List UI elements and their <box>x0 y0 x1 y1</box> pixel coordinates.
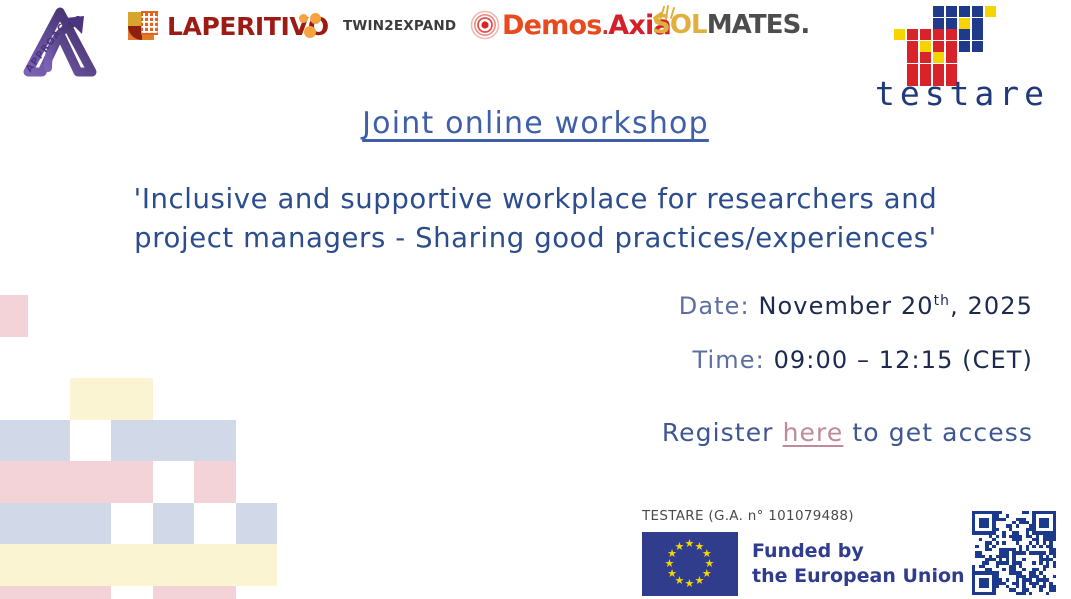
qr-module <box>1016 524 1019 527</box>
qr-module <box>999 511 1002 514</box>
demos-axia-logo: Demos.Axia <box>470 8 671 42</box>
mosaic-cell <box>153 544 195 586</box>
qr-module <box>1006 578 1009 581</box>
qr-module <box>1006 514 1009 517</box>
testare-mosaic-square <box>894 29 905 40</box>
qr-module <box>996 565 999 568</box>
testare-mosaic-square <box>972 41 983 52</box>
testare-mosaic-square <box>933 64 944 75</box>
qr-module <box>1002 535 1005 538</box>
eu-flag-star: ★ <box>685 578 695 589</box>
qr-module <box>1043 568 1046 571</box>
mosaic-cell <box>153 420 195 462</box>
mosaic-cell <box>70 461 112 503</box>
mosaic-cell <box>28 503 70 545</box>
mosaic-cell <box>194 586 236 599</box>
mosaic-cell <box>0 544 28 586</box>
qr-module <box>979 538 982 541</box>
testare-mosaic-square <box>920 52 931 63</box>
qr-module <box>1002 518 1005 521</box>
solmates-rays-icon <box>652 4 678 24</box>
qr-module <box>992 545 995 548</box>
testare-mosaic-square <box>946 29 957 40</box>
mosaic-cell <box>153 586 195 599</box>
qr-module <box>989 548 992 551</box>
mosaic-cell <box>194 420 236 462</box>
workshop-flyer: APPROACH LAPERITIVO <box>0 0 1071 599</box>
eu-funding-line2: the European Union <box>752 564 965 589</box>
twin2expand-dots-icon <box>299 13 321 39</box>
testare-mosaic-square <box>933 29 944 40</box>
qr-module <box>1046 592 1049 595</box>
qr-module <box>1016 585 1019 588</box>
testare-mosaic-square <box>933 52 944 63</box>
qr-module <box>1046 565 1049 568</box>
testare-mosaic-square <box>959 41 970 52</box>
testare-mosaic-square <box>959 18 970 29</box>
qr-finder <box>979 518 989 528</box>
mosaic-cell <box>28 544 70 586</box>
eu-funding-block: ★★★★★★★★★★★★ Funded by the European Unio… <box>642 532 965 596</box>
testare-mosaic-square <box>972 29 983 40</box>
mosaic-cell <box>28 420 70 462</box>
time-value: 09:00 – 12:15 (CET) <box>774 346 1033 374</box>
register-prefix: Register <box>662 418 783 447</box>
register-here-link[interactable]: here <box>783 418 844 447</box>
mosaic-cell <box>194 461 236 503</box>
registration-qr-code[interactable] <box>972 511 1056 595</box>
mosaic-cell <box>0 586 28 599</box>
testare-mosaic-square <box>972 18 983 29</box>
testare-logo: testare <box>862 0 1062 112</box>
partner-logo-strip: APPROACH LAPERITIVO <box>0 0 1071 110</box>
testare-mosaic-square <box>907 29 918 40</box>
testare-mosaic-square <box>920 64 931 75</box>
qr-module <box>1019 538 1022 541</box>
workshop-subject-line1: 'Inclusive and supportive workplace for … <box>0 180 1071 219</box>
solmates-word-part2: MATES. <box>707 10 810 40</box>
testare-mosaic-square <box>959 6 970 17</box>
qr-module <box>1022 551 1025 554</box>
testare-mosaic-square <box>920 29 931 40</box>
event-time-line: Time: 09:00 – 12:15 (CET) <box>393 346 1033 374</box>
qr-module <box>996 585 999 588</box>
funding-footer: TESTARE (G.A. n° 101079488) ★★★★★★★★★★★★… <box>642 508 1062 596</box>
testare-mosaic-square <box>907 52 918 63</box>
mosaic-cell <box>70 544 112 586</box>
mosaic-cell <box>28 586 70 599</box>
date-label: Date: <box>679 292 750 320</box>
mosaic-cell <box>70 378 112 420</box>
event-date-line: Date: November 20th, 2025 <box>393 292 1033 320</box>
eu-funding-line1: Funded by <box>752 539 965 564</box>
qr-finder <box>1039 518 1049 528</box>
register-suffix: to get access <box>843 418 1033 447</box>
solmates-logo: SOLMATES. <box>652 9 809 41</box>
testare-mosaic-square <box>985 6 996 17</box>
testare-mosaic-square <box>946 18 957 29</box>
eu-flag-star: ★ <box>675 541 685 552</box>
approach-logo: APPROACH <box>14 2 106 80</box>
qr-module <box>1022 568 1025 571</box>
qr-module <box>1053 565 1056 568</box>
testare-mosaic-square <box>907 64 918 75</box>
mosaic-cell <box>111 378 153 420</box>
date-year: , 2025 <box>950 292 1033 320</box>
qr-module <box>996 528 999 531</box>
mosaic-cell <box>70 503 112 545</box>
qr-module <box>1002 541 1005 544</box>
testare-mosaic-square <box>933 6 944 17</box>
testare-mosaic-square <box>946 52 957 63</box>
laperitivo-mark-icon <box>124 8 160 44</box>
testare-mosaic-icon <box>900 6 992 76</box>
testare-mosaic-square <box>972 6 983 17</box>
qr-module <box>996 535 999 538</box>
mosaic-cell <box>28 461 70 503</box>
eu-funding-text: Funded by the European Union <box>752 539 965 589</box>
qr-finder <box>979 578 989 588</box>
qr-module <box>1022 592 1025 595</box>
qr-module <box>1043 585 1046 588</box>
date-month-day: November 20 <box>758 292 933 320</box>
testare-mosaic-square <box>959 29 970 40</box>
qr-module <box>1032 585 1035 588</box>
qr-module <box>1039 588 1042 591</box>
eu-flag-star: ★ <box>695 575 705 586</box>
testare-mosaic-square <box>946 41 957 52</box>
qr-module <box>1002 568 1005 571</box>
qr-module <box>985 561 988 564</box>
qr-module <box>1053 575 1056 578</box>
mosaic-cell <box>0 503 28 545</box>
mosaic-cell <box>236 544 278 586</box>
qr-module <box>1039 545 1042 548</box>
event-details: Date: November 20th, 2025 Time: 09:00 – … <box>393 292 1033 400</box>
date-ordinal-suffix: th <box>934 293 950 309</box>
date-value: November 20th, 2025 <box>758 292 1033 320</box>
time-label: Time: <box>693 346 765 374</box>
qr-module <box>1053 588 1056 591</box>
demos-axia-wordmark: Demos.Axia <box>502 12 671 39</box>
qr-module <box>1029 592 1032 595</box>
qr-module <box>975 545 978 548</box>
testare-mosaic-square <box>933 18 944 29</box>
qr-module <box>996 541 999 544</box>
testare-mosaic-square <box>946 64 957 75</box>
eu-flag-star: ★ <box>685 538 695 549</box>
mosaic-cell <box>0 420 28 462</box>
mosaic-cell <box>236 503 278 545</box>
testare-mosaic-square <box>907 41 918 52</box>
workshop-subject: 'Inclusive and supportive workplace for … <box>0 180 1071 258</box>
mosaic-cell <box>0 461 28 503</box>
testare-mosaic-square <box>933 41 944 52</box>
page-title: Joint online workshop <box>0 106 1071 141</box>
twin2expand-logo: TWIN2EXPAND <box>299 11 456 41</box>
qr-module <box>1032 545 1035 548</box>
mosaic-cell <box>70 586 112 599</box>
mosaic-cell <box>194 544 236 586</box>
mosaic-cell <box>0 295 28 337</box>
qr-module <box>1053 555 1056 558</box>
twin2expand-wordmark: TWIN2EXPAND <box>343 18 456 34</box>
testare-mosaic-square <box>946 6 957 17</box>
workshop-subject-line2: project managers - Sharing good practice… <box>0 219 1071 258</box>
register-line: Register here to get access <box>393 418 1033 447</box>
qr-module <box>1032 561 1035 564</box>
qr-module <box>1022 558 1025 561</box>
mosaic-cell <box>111 461 153 503</box>
mosaic-cell <box>111 420 153 462</box>
grant-agreement-text: TESTARE (G.A. n° 101079488) <box>642 508 854 524</box>
qr-module <box>1026 511 1029 514</box>
mosaic-cell <box>153 503 195 545</box>
qr-module <box>1053 538 1056 541</box>
mosaic-cell <box>111 544 153 586</box>
eu-flag-icon: ★★★★★★★★★★★★ <box>642 532 738 596</box>
demos-axia-target-icon <box>470 10 500 40</box>
demos-word-part1: Demos <box>502 10 601 41</box>
testare-mosaic-square <box>920 41 931 52</box>
